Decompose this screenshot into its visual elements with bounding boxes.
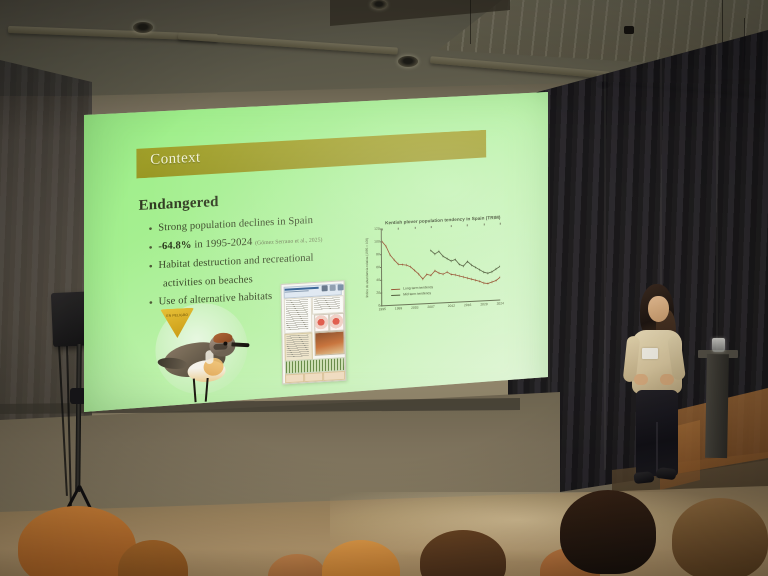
legend-swatch-long-term [391,288,400,289]
chart-x-tickmark [500,223,501,225]
bullet-decline-value: -64.8% [158,240,191,252]
chart-x-tickmark [483,223,484,225]
chart-x-tickmark [382,228,383,230]
chart-legend: Long term tendency Mid term tendency [391,284,433,299]
pedestal [705,354,729,458]
chart-x-tick: 1995 [379,307,386,311]
presentation-slide: Context Endangered • Strong population d… [84,93,550,423]
poster-thumbnail [281,280,347,384]
ceiling-downlight [398,56,418,67]
chart-y-axis-label: Índice de abundancia relativa (1995 = 10… [363,229,371,306]
endangered-badge-label: EN PELIGRO [164,313,190,318]
ceiling-downlight [133,22,153,33]
presenter-face [648,296,669,322]
chart-x-tick: 2003 [411,306,418,310]
chart-x-tickmark [414,227,415,229]
legend-swatch-mid-term [391,295,400,296]
audience-head [560,490,656,574]
chart-x-tick: 2007 [427,305,434,309]
chart-x-tickmark [431,226,432,228]
audience-head [268,554,326,576]
chart-x-tick: 1999 [395,306,402,310]
chart-x-tick: 2024 [497,301,504,305]
bullet-dot-icon: • [149,260,153,274]
name-badge [642,348,658,359]
bullet-text: Habitat destruction and recreational [158,253,313,274]
ceiling-fixture [624,26,634,34]
bullet-text: activities on beaches [163,274,253,291]
slide-section-title: Context [150,150,200,169]
bullet-dot-icon: • [149,242,153,256]
presenter [612,282,702,508]
audience-head [672,498,768,576]
chart-y-tickmark [380,267,382,268]
kentish-plover-photo [157,323,251,402]
water-glass [712,338,725,352]
chart-x-tickmark [467,224,468,226]
chart-y-tickmark [380,241,382,242]
chart-x-tickmark [451,225,452,227]
bullet-dot-icon: • [149,297,153,311]
chart-y-tickmark [380,305,382,306]
hanging-wire [470,0,471,44]
bullet-period: in 1995-2024 [192,237,253,251]
photo-scene: Context Endangered • Strong population d… [0,0,768,576]
population-trend-chart: Kentish plover population tendency in Sp… [357,210,506,324]
slide-heading: Endangered [139,194,219,215]
chart-x-tick: 2012 [448,304,455,308]
bullet-text: -64.8% in 1995-2024 (Gómez Serrano et al… [158,233,322,255]
bullet-dot-icon: • [149,223,153,237]
chart-y-tickmark [380,280,382,281]
chart-x-tick: 2016 [464,303,471,307]
audience-head [322,540,400,576]
bullet-text: Strong population declines in Spain [158,215,313,236]
ceiling-downlight [371,0,387,9]
screen-surface: Context Endangered • Strong population d… [84,92,548,412]
bullet-citation: (Gómez Serrano et al., 2025) [255,237,322,246]
projection-screen: Context Endangered • Strong population d… [82,92,550,412]
audience-head [420,530,506,576]
chart-y-tickmark [380,254,382,255]
chart-y-tickmark [380,293,382,294]
chart-x-tick: 2020 [480,302,487,306]
chart-x-tickmark [398,228,399,230]
audience [0,488,768,576]
legend-label: Mid term tendency [403,291,431,299]
